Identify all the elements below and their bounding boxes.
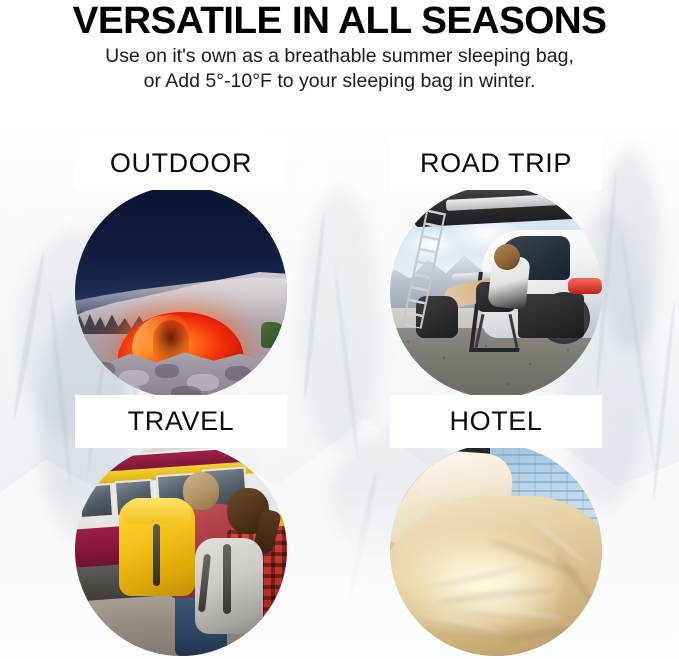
header-block: VERSATILE IN ALL SEASONS Use on it's own… [0, 0, 679, 94]
green-gear [261, 322, 287, 348]
snow-rock [225, 366, 251, 381]
storage-box [518, 294, 584, 338]
yellow-backpack-strap [153, 524, 160, 586]
tile-label-outdoor: OUTDOOR [110, 150, 252, 177]
photo-person-relaxing-beside-white-car-with-rooftop-tent [390, 186, 602, 398]
car-taillight [568, 278, 602, 294]
tile-label-road-trip: ROAD TRIP [420, 150, 572, 177]
label-box-hotel: HOTEL [390, 395, 602, 448]
photo-two-backpackers-boarding-maroon-and-yellow-train [75, 444, 287, 656]
page-title: VERSATILE IN ALL SEASONS [0, 0, 679, 40]
subtitle-line-1: Use on it's own as a breathable summer s… [0, 44, 679, 69]
snow-rock [89, 362, 115, 377]
label-box-travel: TRAVEL [75, 395, 287, 448]
label-box-outdoor: OUTDOOR [75, 137, 287, 190]
tile-label-hotel: HOTEL [449, 408, 542, 435]
yellow-backpack-flap [123, 498, 191, 524]
photo-hotel-bed-with-cream-duvet-and-pillows-by-window [390, 444, 602, 656]
photo-glowing-red-tent-on-snowy-mountain-at-night [75, 186, 287, 398]
photo-circle-hotel[interactable] [390, 444, 602, 656]
photo-circle-travel[interactable] [75, 444, 287, 656]
snow-rock [155, 364, 179, 378]
product-feature-banner: VERSATILE IN ALL SEASONS Use on it's own… [0, 0, 679, 659]
photo-circle-road-trip[interactable] [390, 186, 602, 398]
person-head [494, 244, 520, 270]
tile-label-travel: TRAVEL [128, 408, 235, 435]
train-window [78, 483, 114, 519]
subtitle-line-2: or Add 5°-10°F to your sleeping bag in w… [0, 69, 679, 94]
label-box-road-trip: ROAD TRIP [390, 137, 602, 190]
photo-circle-outdoor[interactable] [75, 186, 287, 398]
grey-backpack-strap [223, 544, 231, 614]
